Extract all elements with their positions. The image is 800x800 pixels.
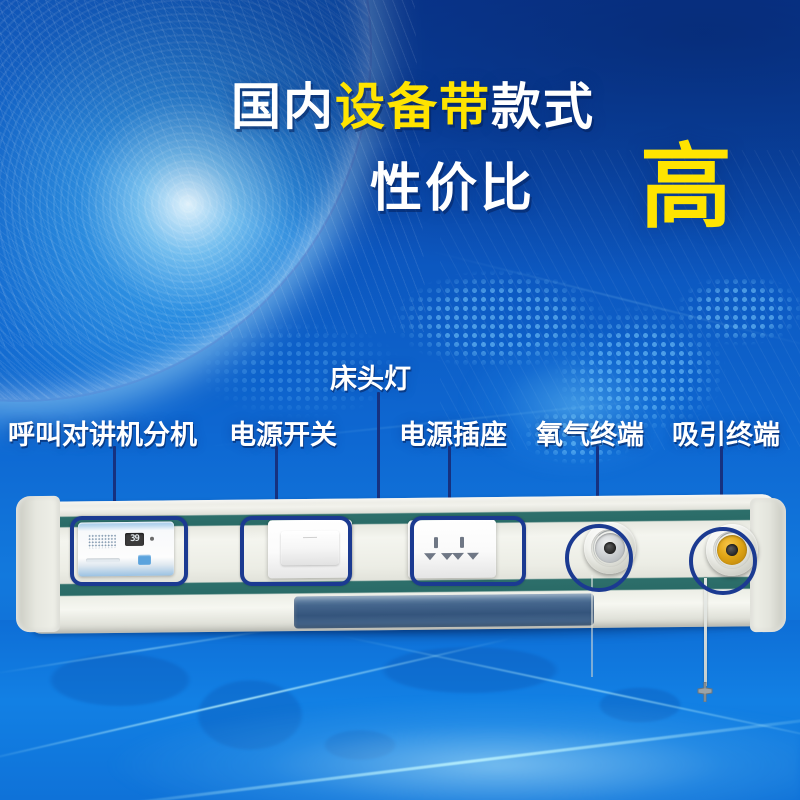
callout-label-suction-terminal: 吸引终端 [672, 413, 780, 452]
banner-canvas: 国内设备带款式 性价比 高 呼叫对讲机分机 电源开关 床头灯 电源插座 氧气终端… [0, 0, 800, 800]
bedside-lamp-diffuser [294, 593, 594, 628]
highlight-circle-oxygen-terminal [565, 524, 633, 592]
panel-end-cap-left [16, 496, 60, 632]
headline-line-1: 国内设备带款式 [0, 78, 800, 136]
headline-block: 国内设备带款式 [0, 78, 800, 136]
highlight-box-nurse-call-intercom [70, 516, 188, 586]
headline-white-b: 款式 [491, 78, 595, 136]
highlight-box-power-socket [410, 516, 526, 586]
callout-label-power-socket: 电源插座 [399, 413, 507, 452]
headline-yellow: 设备带 [335, 78, 491, 136]
highlight-box-power-switch [240, 516, 352, 586]
callout-label-oxygen-terminal: 氧气终端 [536, 413, 644, 452]
callout-label-nurse-call-intercom: 呼叫对讲机分机 [8, 413, 197, 452]
highlight-circle-suction-terminal [689, 527, 757, 595]
suction-hose-connector-icon [693, 682, 717, 702]
callout-label-bedside-lamp: 床头灯 [330, 357, 411, 396]
headline-accent-char: 高 [640, 140, 732, 236]
callout-label-power-switch: 电源开关 [229, 413, 337, 452]
suction-hose [704, 578, 707, 686]
background-glow-spot [460, 330, 690, 480]
headline-white-a: 国内 [231, 78, 335, 136]
headline-line-2: 性价比 [370, 160, 535, 218]
